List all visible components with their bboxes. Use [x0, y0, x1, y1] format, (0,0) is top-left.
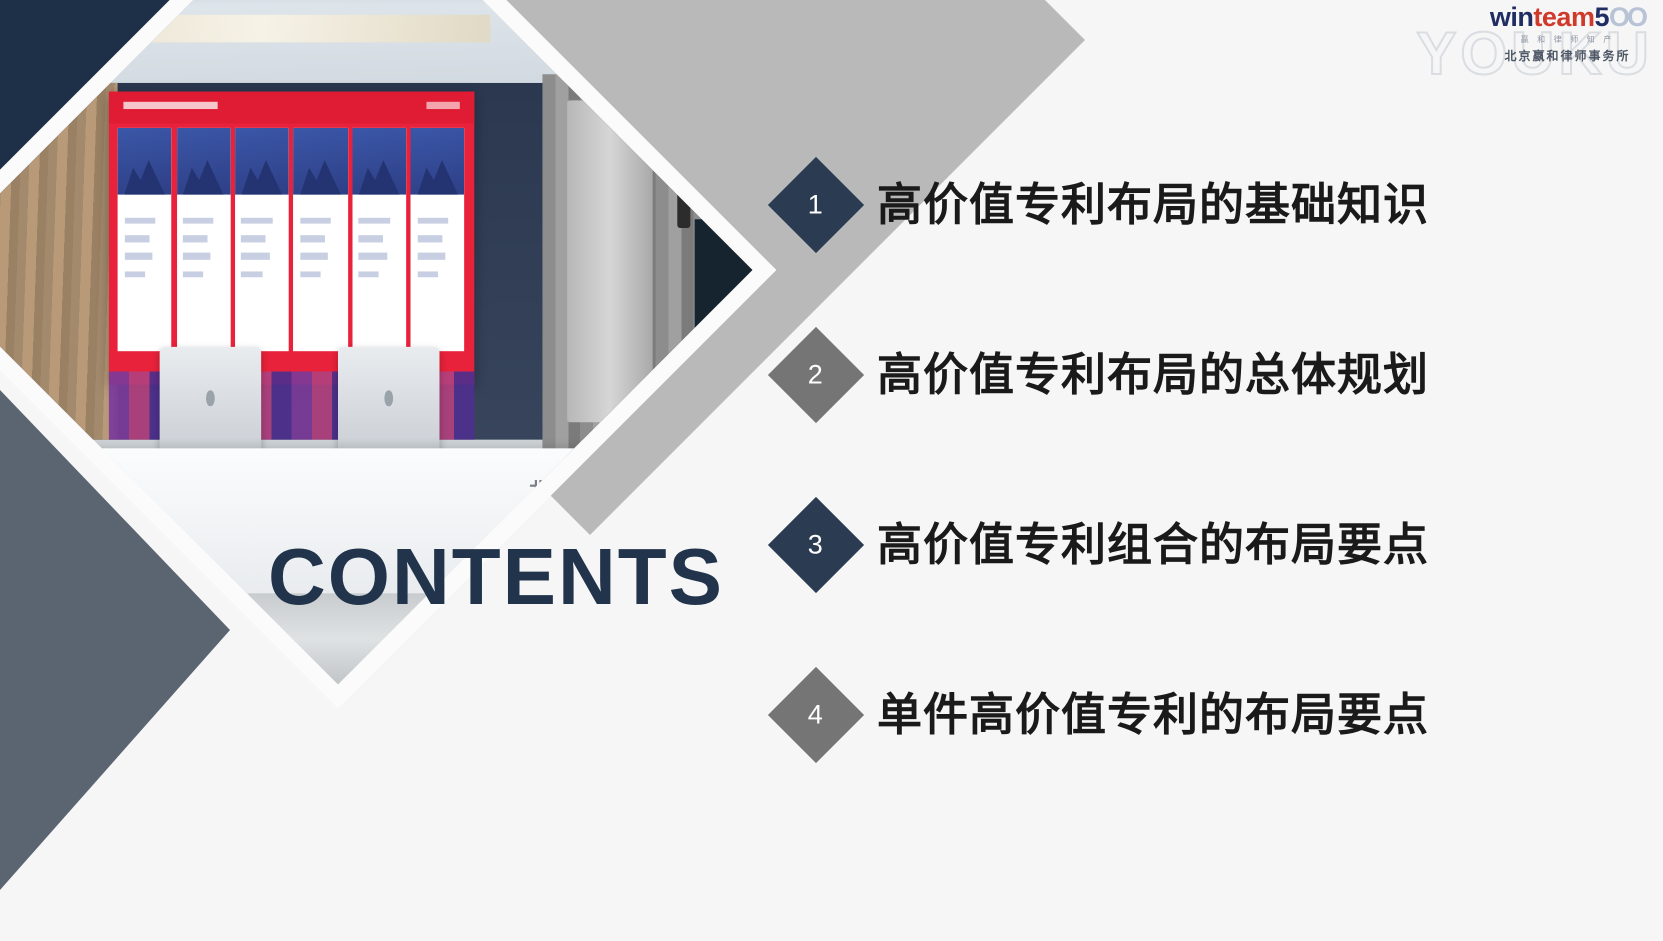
- photo-board-panels: [118, 128, 465, 351]
- photo-board-panel: [352, 128, 406, 351]
- list-item[interactable]: 4 单件高价值专利的布局要点: [737, 665, 1637, 835]
- photo-red-display-board: [109, 92, 474, 385]
- logo-team-text: team: [1533, 2, 1594, 32]
- item-label: 高价值专利布局的基础知识: [877, 163, 1429, 247]
- item-number: 2: [808, 362, 823, 389]
- item-number-diamond: 4: [768, 667, 864, 763]
- item-label: 高价值专利布局的总体规划: [877, 333, 1429, 417]
- presentation-slide: 北京嬴和律师事务所 BEIJING YINGHE LAW FIRM CONTEN…: [0, 0, 1663, 941]
- item-number: 4: [808, 702, 823, 729]
- item-label: 单件高价值专利的布局要点: [877, 673, 1429, 757]
- photo-elevator-door: [567, 100, 652, 423]
- logo-firm-name: 北京嬴和律师事务所: [1490, 47, 1645, 64]
- photo-board-header: [109, 92, 474, 124]
- agenda-list: 1 高价值专利布局的基础知识 2 高价值专利布局的总体规划 3 高价值专利组合的…: [737, 155, 1637, 835]
- item-number-diamond: 1: [768, 157, 864, 253]
- item-number: 1: [808, 192, 823, 219]
- photo-monitor: [338, 346, 440, 456]
- logo-wordmark: winteam5OO: [1490, 4, 1645, 31]
- photo-board-panel: [176, 128, 230, 351]
- item-number-diamond: 3: [768, 497, 864, 593]
- logo-tagline: 赢 和 律 师 知 产: [1490, 34, 1645, 45]
- photo-board-panel: [235, 128, 289, 351]
- photo-board-panel: [411, 128, 465, 351]
- photo-board-panel: [294, 128, 348, 351]
- logo-oo-text: OO: [1609, 2, 1645, 32]
- item-label: 高价值专利组合的布局要点: [877, 503, 1429, 587]
- photo-desk-sign-en: BEIJING YINGHE LAW FIRM: [525, 521, 721, 531]
- photo-monitor: [160, 346, 262, 456]
- photo-board-panel: [118, 128, 172, 351]
- page-title: CONTENTS: [268, 537, 724, 617]
- list-item[interactable]: 3 高价值专利组合的布局要点: [737, 495, 1637, 665]
- winteam-logo: winteam5OO 赢 和 律 师 知 产 北京嬴和律师事务所: [1490, 4, 1645, 64]
- logo-five-text: 5: [1594, 2, 1609, 32]
- logo-win-text: win: [1490, 2, 1534, 32]
- item-number-diamond: 2: [768, 327, 864, 423]
- list-item[interactable]: 2 高价值专利布局的总体规划: [737, 325, 1637, 495]
- item-number: 3: [808, 532, 823, 559]
- list-item[interactable]: 1 高价值专利布局的基础知识: [737, 155, 1637, 325]
